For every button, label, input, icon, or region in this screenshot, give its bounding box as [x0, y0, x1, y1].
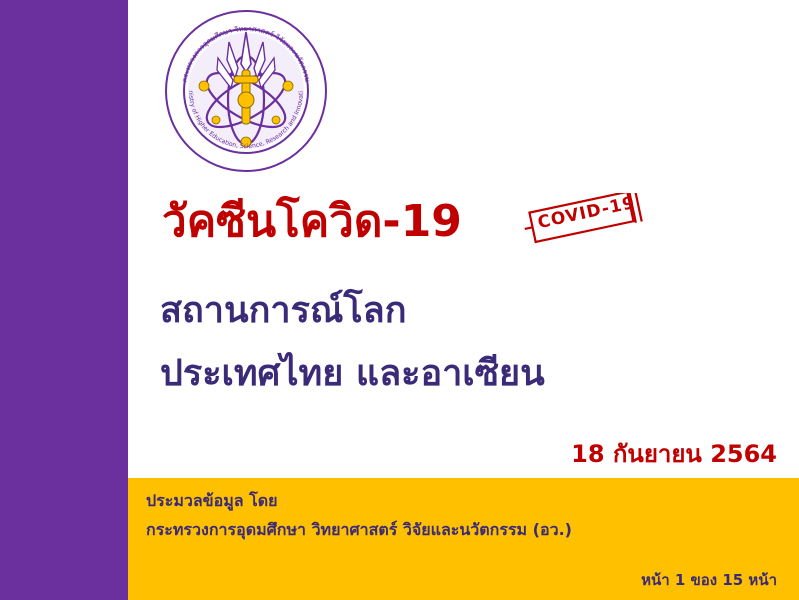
- left-purple-bar: [0, 0, 128, 600]
- covid-19-stamp-icon: COVID-19: [524, 193, 649, 245]
- page-title: วัคซีนโควิด-19: [162, 186, 462, 256]
- presentation-slide: กระทรวงการอุดมศึกษา วิทยาศาสตร์ วิจัยและ…: [0, 0, 799, 600]
- credit-line-1: ประมวลข้อมูล โดย: [146, 489, 278, 514]
- page-number: หน้า 1 ของ 15 หน้า: [641, 568, 777, 592]
- credit-line-2: กระทรวงการอุดมศึกษา วิทยาศาสตร์ วิจัยและ…: [146, 518, 572, 543]
- slide-date: 18 กันยายน 2564: [571, 434, 777, 473]
- subtitle-line-1: สถานการณ์โลก: [160, 281, 407, 338]
- subtitle-line-2: ประเทศไทย และอาเซียน: [160, 344, 545, 401]
- ministry-logo: กระทรวงการอุดมศึกษา วิทยาศาสตร์ วิจัยและ…: [163, 8, 329, 174]
